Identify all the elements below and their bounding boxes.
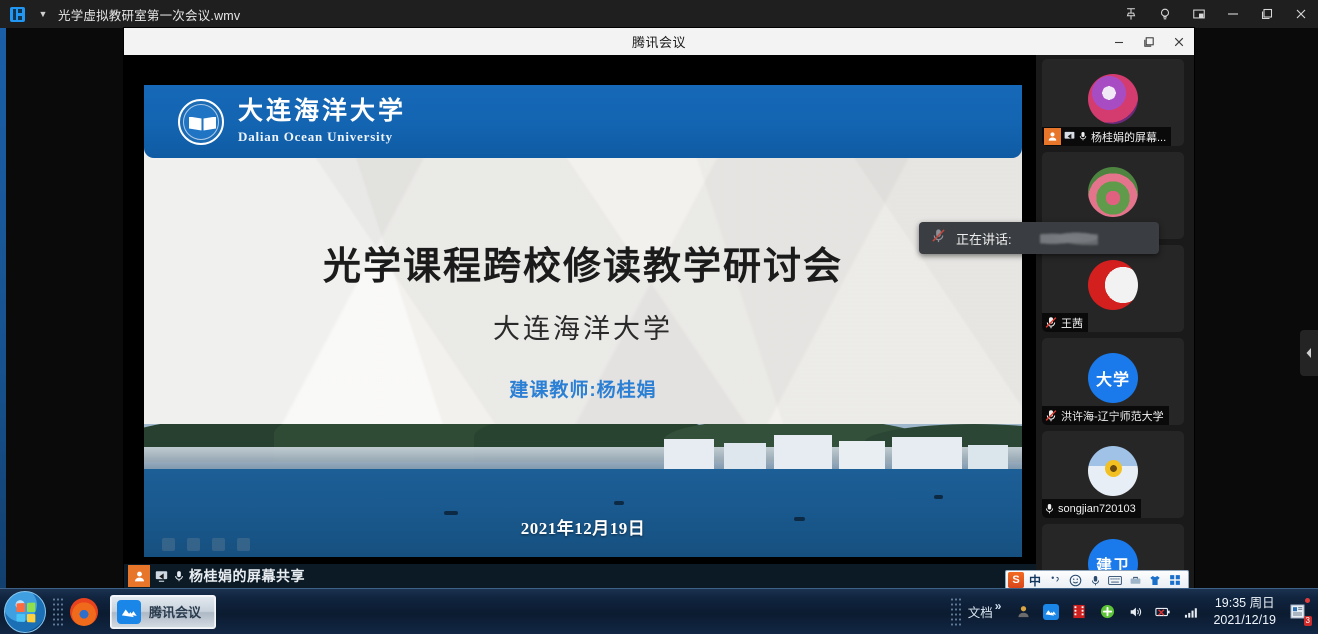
screen-share-icon — [1061, 128, 1076, 146]
tencent-meeting-window: 腾讯会议 — [124, 28, 1194, 588]
screen-share-label: 杨桂娟的屏幕共享 — [189, 566, 305, 586]
participant-name-bar: 王茜 — [1042, 313, 1088, 332]
start-button[interactable] — [4, 591, 46, 633]
player-title: 光学虚拟教研室第一次会议.wmv — [58, 5, 240, 24]
player-window-controls — [1114, 0, 1318, 28]
firefox-icon[interactable] — [70, 598, 98, 626]
slide-ghost-toolbar — [162, 538, 250, 551]
participant-rail[interactable]: 杨桂娟的屏幕... 王茜 — [1036, 55, 1194, 588]
lightbulb-icon[interactable] — [1148, 0, 1182, 28]
slide-banner: 大连海洋大学 Dalian Ocean University — [144, 85, 1022, 158]
speaking-label: 正在讲话: — [956, 229, 1012, 248]
university-name-block: 大连海洋大学 Dalian Ocean University — [238, 98, 406, 145]
system-tray: 文档 » — [950, 589, 1318, 634]
notification-dot — [1305, 598, 1310, 603]
meeting-window-controls — [1104, 28, 1194, 55]
speaking-participant-name — [1040, 230, 1098, 246]
participant-name-bar: 洪许海-辽宁师范大学 — [1042, 406, 1169, 425]
quick-launch — [70, 598, 98, 626]
close-icon[interactable] — [1164, 28, 1194, 55]
campus-photo: 2021年12月19日 — [144, 424, 1022, 557]
microphone-icon — [1076, 128, 1088, 146]
tencent-meeting-tray-icon[interactable] — [1040, 601, 1062, 623]
volume-icon[interactable] — [1124, 601, 1146, 623]
user-icon[interactable] — [1012, 601, 1034, 623]
flower-pink-avatar — [1088, 167, 1138, 217]
pin-icon[interactable] — [1114, 0, 1148, 28]
minimize-icon[interactable] — [1104, 28, 1134, 55]
tray-overflow-icon[interactable]: » — [995, 599, 1002, 613]
minimize-icon[interactable] — [1216, 0, 1250, 28]
rail-collapse-toggle[interactable] — [1300, 330, 1318, 376]
taskbar-clock[interactable]: 19:35 周日 2021/12/19 — [1213, 595, 1276, 629]
media-file-icon — [0, 0, 34, 28]
screen-share-footer: 杨桂娟的屏幕共享 — [124, 564, 1036, 588]
university-name-en: Dalian Ocean University — [238, 129, 406, 145]
participant-tile[interactable]: 杨桂娟的屏幕... — [1042, 59, 1184, 146]
slide-title: 光学课程跨校修读教学研讨会 — [144, 235, 1022, 290]
participant-name: 洪许海-辽宁师范大学 — [1061, 408, 1164, 424]
video-player-window: ▼ 光学虚拟教研室第一次会议.wmv — [0, 0, 1318, 634]
maximize-icon[interactable] — [1134, 28, 1164, 55]
network-signal-icon[interactable] — [1180, 601, 1202, 623]
participant-tile[interactable]: 大学 洪许海-辽宁师范大学 — [1042, 338, 1184, 425]
clock-time: 19:35 周日 — [1213, 595, 1276, 612]
host-icon — [128, 565, 150, 587]
mini-player-icon[interactable] — [1182, 0, 1216, 28]
avatar-initials: 大学 — [1096, 366, 1130, 390]
meeting-titlebar[interactable]: 腾讯会议 — [124, 28, 1194, 55]
participant-name: 杨桂娟的屏幕... — [1091, 129, 1166, 145]
battery-error-icon[interactable] — [1152, 601, 1174, 623]
skin-icon[interactable] — [1146, 572, 1164, 588]
chinese-mode-icon[interactable]: 中 — [1026, 572, 1044, 588]
media-film-icon[interactable] — [1068, 601, 1090, 623]
chevron-down-icon[interactable]: ▼ — [34, 0, 52, 28]
microphone-icon — [1044, 500, 1055, 518]
clock-date: 2021/12/19 — [1213, 612, 1276, 629]
tray-docs-label[interactable]: 文档 — [968, 602, 993, 621]
slide-teacher-line: 建课教师:杨桂娟 — [144, 375, 1022, 402]
sogou-logo-icon[interactable]: S — [1008, 572, 1024, 588]
voice-input-icon[interactable] — [1086, 572, 1104, 588]
player-left-edge — [0, 28, 6, 588]
microphone-muted-icon — [931, 228, 946, 248]
host-icon — [1044, 128, 1061, 145]
taskbar-grip[interactable] — [52, 597, 64, 627]
participant-tile[interactable]: 王茜 — [1042, 245, 1184, 332]
shared-screen-area[interactable]: 大连海洋大学 Dalian Ocean University 光学课程跨校修读教… — [124, 55, 1036, 588]
green-plus-icon[interactable] — [1096, 601, 1118, 623]
sunflower-avatar — [1088, 446, 1138, 496]
soft-keyboard-icon[interactable] — [1106, 572, 1124, 588]
slide-subtitle: 大连海洋大学 — [144, 307, 1022, 346]
action-center-button[interactable]: 3 — [1286, 597, 1312, 627]
windows-taskbar: 腾讯会议 文档 » — [0, 588, 1318, 634]
participant-tile[interactable]: songjian720103 — [1042, 431, 1184, 518]
chevron-left-icon — [1305, 347, 1313, 359]
university-logo-icon — [178, 99, 224, 145]
apps-icon[interactable] — [1166, 572, 1184, 588]
letterbox-band — [144, 55, 1022, 82]
microphone-muted-icon — [1044, 407, 1058, 425]
player-titlebar[interactable]: ▼ 光学虚拟教研室第一次会议.wmv — [0, 0, 1318, 28]
screen-share-icon — [154, 569, 169, 583]
slide-date: 2021年12月19日 — [144, 514, 1022, 539]
punctuation-icon[interactable] — [1046, 572, 1064, 588]
participant-name-bar: 杨桂娟的屏幕... — [1042, 127, 1171, 146]
microphone-icon — [173, 569, 185, 583]
university-name-cn: 大连海洋大学 — [238, 98, 406, 126]
taskbar-button-tencent-meeting[interactable]: 腾讯会议 — [110, 595, 216, 629]
notification-badge: 3 — [1304, 616, 1312, 626]
tray-grip[interactable] — [950, 597, 962, 627]
presentation-slide: 大连海洋大学 Dalian Ocean University 光学课程跨校修读教… — [144, 85, 1022, 557]
microphone-muted-icon — [1044, 314, 1058, 332]
participant-name-bar: songjian720103 — [1042, 499, 1141, 518]
sogou-ime-toolbar[interactable]: S 中 — [1005, 570, 1189, 590]
maximize-icon[interactable] — [1250, 0, 1284, 28]
flower-purple-avatar — [1088, 74, 1138, 124]
emoji-icon[interactable] — [1066, 572, 1084, 588]
windows-logo-icon — [16, 602, 35, 622]
close-icon[interactable] — [1284, 0, 1318, 28]
taskbar-button-label: 腾讯会议 — [149, 602, 201, 621]
baymax-red-avatar — [1088, 260, 1138, 310]
speaking-indicator: 正在讲话: — [919, 222, 1159, 254]
tencent-meeting-icon — [117, 600, 141, 624]
blue-text-avatar: 大学 — [1088, 353, 1138, 403]
participant-name: songjian720103 — [1058, 503, 1136, 515]
toolbox-icon[interactable] — [1126, 572, 1144, 588]
participant-name: 王茜 — [1061, 315, 1083, 331]
meeting-title: 腾讯会议 — [124, 32, 1194, 51]
meeting-stage: 大连海洋大学 Dalian Ocean University 光学课程跨校修读教… — [124, 55, 1194, 588]
